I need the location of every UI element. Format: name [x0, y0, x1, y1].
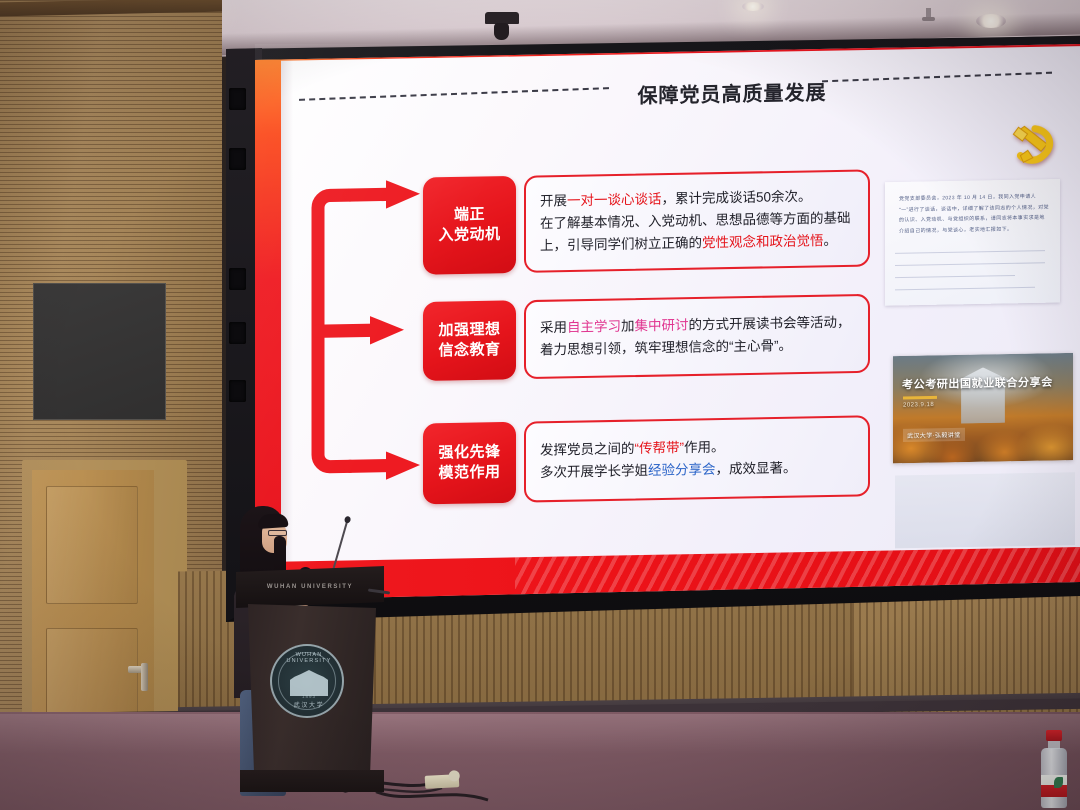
poster-date: 2023.9.18 [903, 402, 934, 409]
arrow-head-icon [386, 180, 420, 209]
seg: 上，引导同学们树立正确的 [540, 235, 702, 253]
row-tag: 强化先锋 模范作用 [423, 422, 516, 505]
seg: 的方式开展读书会等活动， [689, 315, 851, 333]
lectern-top-label: WUHAN UNIVERSITY [236, 584, 384, 590]
seg-highlight: 党性观念和政治觉悟 [702, 233, 824, 250]
seg: 多次开展学长学姐 [540, 463, 648, 480]
row-body: 采用自主学习加集中研讨的方式开展读书会等活动， 着力思想引领，筑牢理想信念的“主… [524, 294, 870, 379]
seg-highlight: “传帮带” [635, 440, 685, 456]
lectern: WUHAN UNIVERSITY WUHAN UNIVERSITY 1893 武… [236, 566, 384, 802]
career-sharing-poster-photo: 考公考研出国就业联合分享会 2023.9.18 武汉大学·弘毅讲堂 [893, 353, 1073, 464]
floor-reflection [0, 714, 1080, 754]
row-line: 着力思想引领，筑牢理想信念的“主心骨”。 [540, 334, 854, 362]
speaker-grille [229, 322, 246, 344]
bottle-cap[interactable] [1046, 730, 1062, 741]
seg: 着力思想引领，筑牢理想信念的“主心骨”。 [540, 338, 792, 358]
poster-reflection-strip [895, 472, 1075, 548]
bracket-arrows-diagram [304, 179, 432, 481]
title-dashed-rule-right [822, 72, 1052, 83]
arrow-head-icon [386, 451, 420, 480]
row-tag-line1: 强化先锋 [438, 442, 500, 464]
university-seal: WUHAN UNIVERSITY 1893 武汉大学 [270, 644, 344, 718]
seal-year: 1893 [272, 694, 346, 699]
door-handle[interactable] [128, 666, 148, 673]
row-line: 上，引导同学们树立正确的党性观念和政治觉悟。 [540, 229, 854, 257]
slide: 保障党员高质量发展 [255, 44, 1080, 600]
seg-highlight: 自主学习 [567, 319, 621, 335]
poster-title: 考公考研出国就业联合分享会 [902, 373, 1053, 392]
seg-highlight: 集中研讨 [635, 318, 689, 334]
seg: 。 [824, 233, 838, 248]
lectern-top: WUHAN UNIVERSITY [236, 566, 384, 608]
fire-sprinkler-icon [926, 8, 931, 18]
speaker-grille [229, 380, 246, 402]
slide-title: 保障党员高质量发展 [627, 76, 837, 109]
cpc-emblem-icon [1007, 118, 1063, 170]
acoustic-panel [33, 283, 166, 420]
poster-accent-bar [903, 396, 937, 400]
seg: ，成效显著。 [716, 460, 797, 477]
presentation-screen[interactable]: 保障党员高质量发展 [255, 44, 1080, 600]
lectern-base [240, 770, 384, 792]
row-body: 发挥党员之间的“传帮带”作用。 多次开展学长学姐经验分享会，成效显著。 [524, 415, 870, 502]
floor-cable-right [372, 784, 492, 810]
seg: 开展 [540, 193, 567, 209]
water-bottle[interactable] [1040, 730, 1068, 808]
seg-highlight: 一对一谈心谈话 [567, 192, 662, 209]
row-tag: 端正 入党动机 [423, 176, 516, 275]
seg: 作用。 [684, 439, 725, 455]
seal-outer-text: WUHAN UNIVERSITY [272, 652, 346, 664]
row-tag-line2: 模范作用 [438, 463, 500, 485]
row-tag-line2: 入党动机 [438, 225, 500, 247]
content-row: 加强理想 信念教育 采用自主学习加集中研讨的方式开展读书会等活动， 着力思想引领… [423, 294, 870, 381]
seg: ，累计完成谈话50余次。 [662, 189, 812, 207]
bottle-neck [1048, 741, 1060, 749]
ceiling-downlight-icon [976, 14, 1006, 28]
lecture-hall-scene: 保障党员高质量发展 [0, 0, 1080, 810]
speaker-grille [229, 88, 246, 110]
presenter-fringe [258, 513, 289, 529]
slide-inner-shadow [281, 61, 293, 562]
seg: 发挥党员之间的 [540, 441, 635, 458]
row-tag-line1: 端正 [454, 204, 485, 225]
speaker-grille [229, 268, 246, 290]
document-scan-photo: 党党支部委员会，2023 年 10 月 14 日，我同入党申请人 “一”进行了谈… [885, 179, 1060, 306]
security-camera-icon [485, 12, 519, 24]
seg-highlight: 经验分享会 [648, 462, 716, 478]
seg: 加 [621, 319, 635, 334]
row-line: 多次开展学长学姐经验分享会，成效显著。 [540, 456, 854, 484]
row-tag: 加强理想 信念教育 [423, 300, 516, 381]
speaker-grille [229, 148, 246, 170]
row-tag-line1: 加强理想 [438, 319, 500, 341]
document-scan-text: 党党支部委员会，2023 年 10 月 14 日，我同入党申请人 “一”进行了谈… [899, 191, 1050, 236]
row-body: 开展一对一谈心谈话，累计完成谈话50余次。 在了解基本情况、入党动机、思想品德等… [524, 169, 870, 272]
seg: 采用 [540, 320, 567, 336]
row-tag-line2: 信念教育 [438, 340, 500, 362]
seg: 在了解基本情况、入党动机、思想品德等方面的基础 [540, 210, 851, 231]
door-upper-panel [46, 486, 138, 604]
arrow-head-icon [370, 316, 404, 345]
poster-subtitle: 武汉大学·弘毅讲堂 [903, 428, 965, 442]
content-row: 端正 入党动机 开展一对一谈心谈话，累计完成谈话50余次。 在了解基本情况、入党… [423, 169, 870, 274]
ceiling-downlight-icon [742, 2, 764, 11]
bottle-leaf-icon [1054, 777, 1063, 788]
seal-chinese-name: 武汉大学 [272, 700, 346, 709]
title-dashed-rule-left [299, 87, 609, 101]
content-row: 强化先锋 模范作用 发挥党员之间的“传帮带”作用。 多次开展学长学姐经验分享会，… [423, 415, 870, 504]
